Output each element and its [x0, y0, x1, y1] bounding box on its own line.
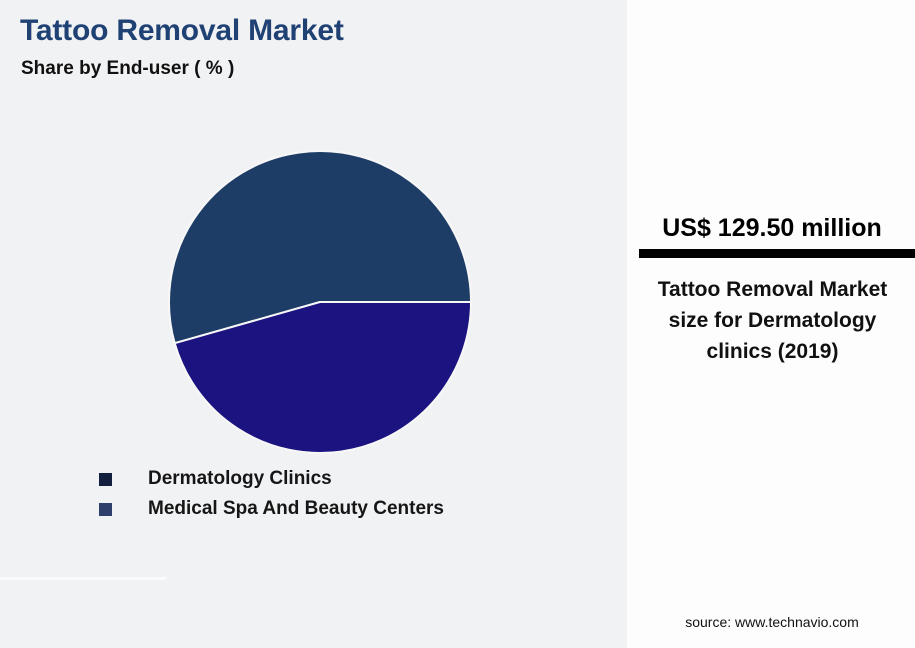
pie-chart [168, 150, 472, 454]
page-title: Tattoo Removal Market [20, 14, 344, 48]
callout-description: Tattoo Removal Market size for Dermatolo… [645, 274, 900, 367]
callout-panel: US$ 129.50 million Tattoo Removal Market… [625, 0, 915, 648]
legend-item-label: Medical Spa And Beauty Centers [148, 498, 444, 520]
chart-panel: Tattoo Removal Market Share by End-user … [0, 0, 624, 648]
legend-item-medical-spa-and-beauty-centers[interactable]: Medical Spa And Beauty Centers [99, 494, 599, 524]
callout-underline-bar [639, 249, 915, 258]
callout-value: US$ 129.50 million [627, 214, 915, 243]
legend-item-dermatology-clinics[interactable]: Dermatology Clinics [99, 464, 599, 494]
legend-swatch-icon [99, 503, 112, 516]
source-attribution: source: www.technavio.com [627, 614, 915, 630]
legend-item-label: Dermatology Clinics [148, 468, 332, 490]
pie-chart-svg [168, 150, 472, 454]
infographic-root: Tattoo Removal Market Share by End-user … [0, 0, 915, 648]
divider [0, 577, 166, 580]
chart-subtitle: Share by End-user ( % ) [21, 58, 234, 80]
legend-swatch-icon [99, 473, 112, 486]
chart-legend: Dermatology Clinics Medical Spa And Beau… [99, 464, 599, 524]
